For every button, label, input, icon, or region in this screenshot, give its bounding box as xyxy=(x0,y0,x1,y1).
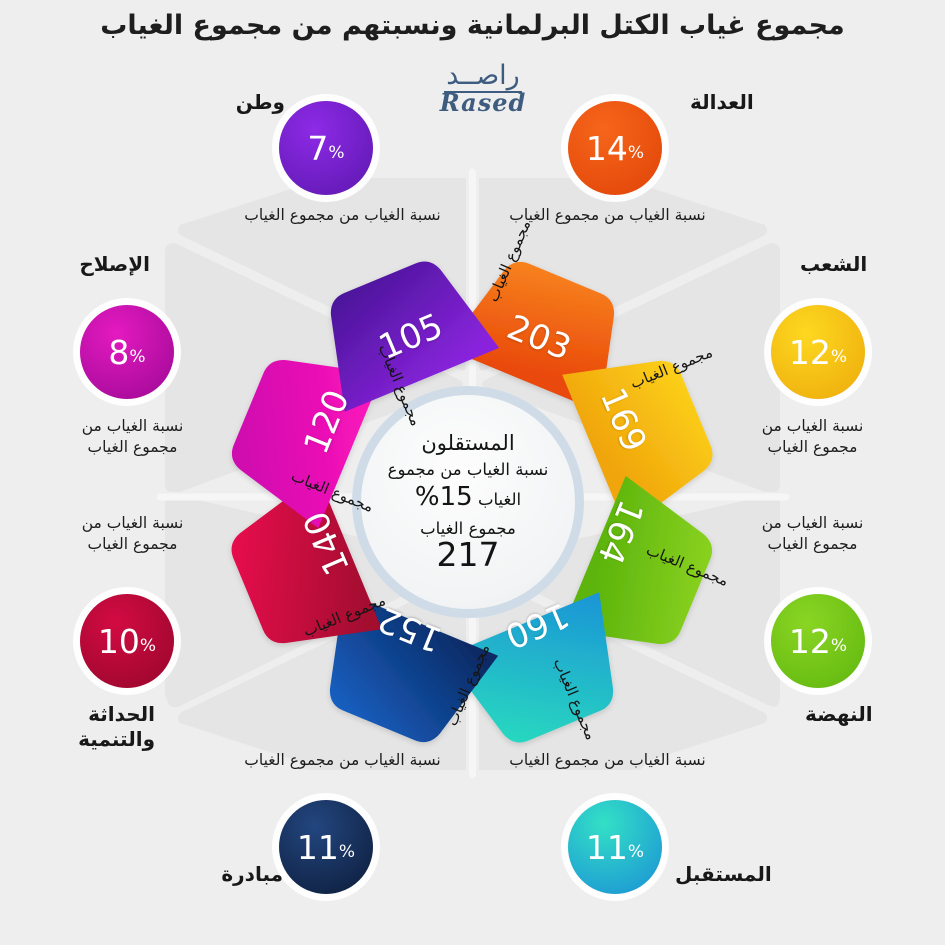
caption-mustaqbal: نسبة الغياب من مجموع الغياب xyxy=(490,750,725,771)
percent-bubble-islah[interactable]: 8 % xyxy=(80,305,174,399)
percent-value-islah: 8 xyxy=(108,336,129,369)
percent-value-mubadara: 11 xyxy=(297,831,339,864)
caption-hadatha: نسبة الغياب من مجموع الغياب xyxy=(35,513,230,555)
party-name-wtn: وطن xyxy=(215,90,285,115)
center-total-value: 217 xyxy=(437,538,500,573)
infographic-canvas: مجموع غياب الكتل البرلمانية ونسبتهم من م… xyxy=(0,0,945,945)
percent-sign-mubadara: % xyxy=(339,844,355,861)
center-party-name: المستقلون xyxy=(421,431,514,455)
party-name-adalah: العدالة xyxy=(690,90,790,115)
page-title: مجموع غياب الكتل البرلمانية ونسبتهم من م… xyxy=(0,10,945,41)
caption-adalah: نسبة الغياب من مجموع الغياب xyxy=(490,205,725,226)
percent-bubble-shaab[interactable]: 12 % xyxy=(771,305,865,399)
percent-value-wtn: 7 xyxy=(307,132,328,165)
percent-sign-islah: % xyxy=(129,349,145,366)
caption-islah: نسبة الغياب من مجموع الغياب xyxy=(35,416,230,458)
party-name-nahda: النهضة xyxy=(805,702,915,727)
caption-wtn: نسبة الغياب من مجموع الغياب xyxy=(225,205,460,226)
percent-value-hadatha: 10 xyxy=(98,625,140,658)
percent-value-adalah: 14 xyxy=(586,132,628,165)
logo-arabic: راصــد xyxy=(398,62,568,89)
percent-value-mustaqbal: 11 xyxy=(586,831,628,864)
percent-sign-hadatha: % xyxy=(140,638,156,655)
caption-mubadara: نسبة الغياب من مجموع الغياب xyxy=(225,750,460,771)
center-rate-value: 15% xyxy=(415,482,473,512)
percent-bubble-adalah[interactable]: 14 % xyxy=(568,101,662,195)
party-name-mustaqbal: المستقبل xyxy=(675,862,790,887)
party-name-shaab: الشعب xyxy=(800,252,910,277)
percent-bubble-nahda[interactable]: 12 % xyxy=(771,594,865,688)
party-name-islah: الإصلاح xyxy=(40,252,150,277)
caption-shaab: نسبة الغياب من مجموع الغياب xyxy=(715,416,910,458)
percent-sign-mustaqbal: % xyxy=(628,844,644,861)
percent-value-shaab: 12 xyxy=(789,336,831,369)
center-disc[interactable]: المستقلون نسبة الغياب من مجموع الغياب 15… xyxy=(352,386,584,618)
rased-logo: راصــد Rased xyxy=(398,62,568,115)
percent-bubble-mustaqbal[interactable]: 11 % xyxy=(568,800,662,894)
caption-nahda: نسبة الغياب من مجموع الغياب xyxy=(715,513,910,555)
center-rate: نسبة الغياب من مجموع الغياب 15% xyxy=(386,459,551,514)
percent-bubble-wtn[interactable]: 7 % xyxy=(279,101,373,195)
party-name-hadatha: الحداثة والتنمية xyxy=(30,702,155,752)
percent-sign-adalah: % xyxy=(628,145,644,162)
percent-bubble-hadatha[interactable]: 10 % xyxy=(80,594,174,688)
percent-sign-wtn: % xyxy=(328,145,344,162)
percent-value-nahda: 12 xyxy=(789,625,831,658)
percent-sign-nahda: % xyxy=(831,638,847,655)
percent-sign-shaab: % xyxy=(831,349,847,366)
logo-latin: Rased xyxy=(398,91,568,115)
party-name-mubadara: مبادرة xyxy=(193,862,283,887)
percent-bubble-mubadara[interactable]: 11 % xyxy=(279,800,373,894)
